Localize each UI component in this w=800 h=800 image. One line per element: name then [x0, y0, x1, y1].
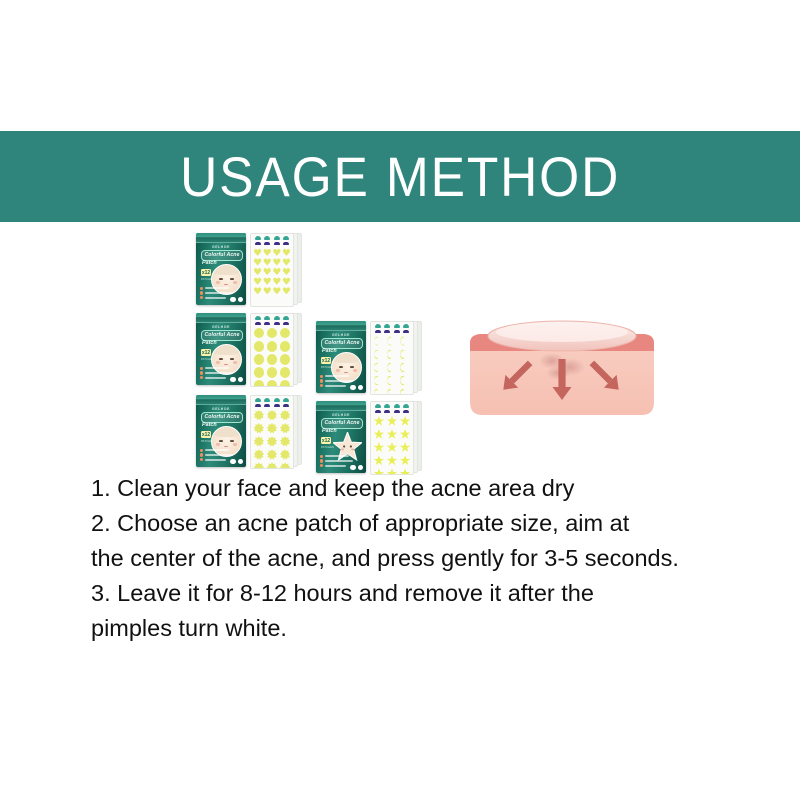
- patch-circle: [254, 380, 265, 387]
- pouch-bullet-row: [200, 291, 242, 294]
- patch-flower: [254, 462, 265, 469]
- patch-moon: [400, 375, 411, 386]
- patch-moon: [374, 362, 385, 373]
- bullet-dot-icon: [200, 449, 203, 452]
- patch-moon: [374, 375, 385, 386]
- bullet-dot-icon: [200, 287, 203, 290]
- patch-sheet-stack: [370, 321, 422, 393]
- instruction-line-5: pimples turn white.: [91, 611, 751, 646]
- bullet-bar: [325, 375, 349, 377]
- pouch-qty-badge: x12: [201, 349, 211, 356]
- bullet-bar: [205, 377, 226, 379]
- pouch-zip-seal: [196, 395, 246, 405]
- pouch-name-line2: Patch: [202, 340, 217, 346]
- face-mouth: [224, 284, 228, 286]
- pouch-bullet-row: [320, 379, 362, 382]
- bullet-bar: [205, 287, 229, 289]
- patch-grid-flower: [251, 407, 293, 469]
- sheet-front: [370, 321, 414, 395]
- instruction-line-4: 3. Leave it for 8-12 hours and remove it…: [91, 576, 751, 611]
- patch-flower: [254, 449, 265, 460]
- bullet-dot-icon: [320, 459, 323, 462]
- pouch-bullet-row: [320, 459, 362, 462]
- patch-heart: [263, 248, 271, 256]
- pouch-zip-seal: [316, 401, 366, 411]
- bullet-dot-icon: [200, 291, 203, 294]
- pouch-bullet-row: [200, 287, 242, 290]
- chip-icon: [230, 377, 236, 383]
- face-eye-right: [230, 278, 234, 280]
- chip-icon: [238, 297, 244, 303]
- patch-flower: [267, 423, 278, 434]
- patch-moon: [387, 349, 398, 360]
- pouch-patch-chips: [350, 465, 363, 471]
- bullet-bar: [325, 380, 353, 382]
- skin-diagram-svg: [466, 305, 658, 430]
- face-eye-right: [350, 366, 354, 368]
- patch-sheet-stack: [250, 313, 302, 385]
- patch-flower: [267, 462, 278, 469]
- patch-heart: [263, 257, 271, 265]
- bullet-dot-icon: [200, 367, 203, 370]
- patch-circle: [280, 341, 291, 352]
- patch-moon: [374, 388, 385, 395]
- pouch-bullet-row: [200, 367, 242, 370]
- face-cheek-right: [233, 443, 237, 445]
- bullet-bar: [325, 460, 353, 462]
- instruction-line-2: 2. Choose an acne patch of appropriate s…: [91, 506, 751, 541]
- pouch-brand-label: GELHOE: [196, 325, 246, 329]
- patch-star: [374, 455, 385, 466]
- patch-circle: [254, 354, 265, 365]
- pouch-bullet-row: [320, 455, 362, 458]
- pouch-brand-label: GELHOE: [316, 413, 366, 417]
- patch-circle: [280, 328, 291, 339]
- product-pouch: GELHOE Colorful Acne Patch x12 PATCHES: [196, 395, 246, 467]
- patch-heart: [263, 267, 271, 275]
- patch-flower: [280, 436, 291, 447]
- bullet-dot-icon: [200, 376, 203, 379]
- pouch-name-line2: Patch: [202, 260, 217, 266]
- pouch-qty-badge: x12: [201, 269, 211, 276]
- product-pouch: GELHOE Colorful Acne Patch x12 PATCHES: [316, 321, 366, 393]
- patch-flower: [280, 410, 291, 421]
- patch-flower: [267, 449, 278, 460]
- patch-sheet-stack: [250, 395, 302, 467]
- patch-heart: [263, 286, 271, 294]
- bullet-dot-icon: [200, 296, 203, 299]
- face-eye-left: [219, 440, 223, 442]
- patch-moon: [400, 388, 411, 395]
- patch-circle: [254, 367, 265, 378]
- patch-moon: [374, 336, 385, 347]
- bullet-dot-icon: [200, 453, 203, 456]
- instruction-line-3: the center of the acne, and press gently…: [91, 541, 751, 576]
- patch-grid-heart: [251, 245, 293, 297]
- patch-star: [400, 442, 411, 453]
- patch-circle: [254, 328, 265, 339]
- face-cheek-right: [233, 281, 237, 283]
- chip-icon: [350, 465, 356, 471]
- patch-star: [374, 416, 385, 427]
- chip-icon: [238, 459, 244, 465]
- page-title: USAGE METHOD: [180, 149, 620, 205]
- patch-star: [387, 455, 398, 466]
- pouch-qty-badge: x12: [201, 431, 211, 438]
- patch-grid-star: [371, 413, 413, 475]
- patch-heart: [282, 286, 290, 294]
- pouch-name-line1: Colorful Acne: [204, 332, 239, 338]
- bullet-bar: [205, 372, 233, 374]
- skin-cross-section-diagram: [466, 305, 658, 430]
- face-mouth: [224, 364, 228, 366]
- patch-circle: [267, 367, 278, 378]
- product-item-moon: GELHOE Colorful Acne Patch x12 PATCHES: [316, 321, 422, 393]
- pouch-zip-seal: [316, 321, 366, 331]
- patch-moon: [387, 388, 398, 395]
- pouch-qty-badge: x12: [321, 357, 331, 364]
- pouch-brand-label: GELHOE: [196, 407, 246, 411]
- patch-heart: [282, 277, 290, 285]
- patch-heart: [254, 257, 262, 265]
- patch-circle: [280, 354, 291, 365]
- face-cheek-left: [336, 369, 340, 371]
- product-item-flower: GELHOE Colorful Acne Patch x12 PATCHES: [196, 395, 302, 467]
- acne-spot: [546, 366, 570, 380]
- patch-heart: [254, 286, 262, 294]
- patch-moon: [400, 349, 411, 360]
- bullet-dot-icon: [200, 371, 203, 374]
- pouch-name-line1: Colorful Acne: [324, 340, 359, 346]
- patch-heart: [254, 267, 262, 275]
- face-cheek-left: [216, 281, 220, 283]
- bullet-bar: [205, 449, 229, 451]
- face-hair: [332, 353, 361, 363]
- pouch-patch-chips: [350, 385, 363, 391]
- patch-moon: [374, 349, 385, 360]
- pouch-bullet-row: [320, 375, 362, 378]
- face-eye-left: [219, 358, 223, 360]
- sheet-front: [250, 233, 294, 307]
- product-pouch: GELHOE Colorful Acne Patch x12 PATCHES: [196, 313, 246, 385]
- patch-star: [400, 416, 411, 427]
- face-cheek-left: [216, 361, 220, 363]
- face-hair: [212, 265, 241, 275]
- bullet-bar: [205, 297, 226, 299]
- patch-heart: [273, 277, 281, 285]
- product-item-heart: GELHOE Colorful Acne Patch x12 PATCHES: [196, 233, 302, 305]
- patch-sheet-stack: [370, 401, 422, 473]
- patch-flower: [254, 423, 265, 434]
- patch-circle: [254, 341, 265, 352]
- pouch-bullet-row: [200, 371, 242, 374]
- pouch-name-line1: Colorful Acne: [204, 252, 239, 258]
- face-eye-right: [230, 358, 234, 360]
- patch-flower: [267, 410, 278, 421]
- bullet-bar: [325, 455, 349, 457]
- patch-star: [387, 429, 398, 440]
- bullet-bar: [205, 454, 233, 456]
- pouch-brand-label: GELHOE: [316, 333, 366, 337]
- product-item-circle: GELHOE Colorful Acne Patch x12 PATCHES: [196, 313, 302, 385]
- patch-heart: [254, 277, 262, 285]
- patch-star: [387, 416, 398, 427]
- face-eye-left: [339, 366, 343, 368]
- pouch-name-line1: Colorful Acne: [204, 414, 239, 420]
- pouch-qty-badge: x12: [321, 437, 331, 444]
- bullet-dot-icon: [320, 455, 323, 458]
- patch-moon: [387, 362, 398, 373]
- acne-patch-highlight: [496, 322, 628, 342]
- patch-heart: [282, 267, 290, 275]
- patch-flower: [267, 436, 278, 447]
- patch-moon: [387, 375, 398, 386]
- patch-moon: [400, 362, 411, 373]
- face-cheek-left: [216, 443, 220, 445]
- face-cheek-right: [233, 361, 237, 363]
- patch-grid-moon: [371, 333, 413, 395]
- face-eye-right: [230, 440, 234, 442]
- face-hair: [212, 427, 241, 437]
- instruction-steps: 1. Clean your face and keep the acne are…: [91, 471, 751, 646]
- pouch-bullet-row: [200, 453, 242, 456]
- chip-icon: [358, 385, 364, 391]
- patch-star: [387, 442, 398, 453]
- bullet-bar: [205, 292, 233, 294]
- bullet-dot-icon: [200, 458, 203, 461]
- pouch-patch-chips: [230, 459, 243, 465]
- patch-heart: [273, 267, 281, 275]
- product-collage: GELHOE Colorful Acne Patch x12 PATCHES: [196, 233, 436, 473]
- pouch-qty-sub: PATCHES: [321, 445, 334, 449]
- face-eye-left: [219, 278, 223, 280]
- patch-flower: [280, 462, 291, 469]
- sheet-front: [250, 313, 294, 387]
- patch-circle: [280, 380, 291, 387]
- bullet-dot-icon: [320, 464, 323, 467]
- pouch-zip-seal: [196, 313, 246, 323]
- pouch-patch-chips: [230, 377, 243, 383]
- bullet-bar: [325, 385, 346, 387]
- patch-heart: [273, 248, 281, 256]
- patch-heart: [263, 277, 271, 285]
- patch-moon: [400, 336, 411, 347]
- patch-sheet-stack: [250, 233, 302, 305]
- patch-flower: [280, 449, 291, 460]
- bullet-dot-icon: [320, 375, 323, 378]
- patch-moon: [387, 336, 398, 347]
- usage-method-infographic: USAGE METHOD GELHOE Colorful Acne Patch …: [0, 0, 800, 800]
- patch-star: [400, 455, 411, 466]
- bullet-bar: [325, 465, 346, 467]
- pouch-zip-seal: [196, 233, 246, 243]
- product-pouch: GELHOE Colorful Acne Patch x12 PATCHES: [316, 401, 366, 473]
- pouch-name-line1: Colorful Acne: [324, 420, 359, 426]
- sheet-front: [370, 401, 414, 475]
- pouch-patch-chips: [230, 297, 243, 303]
- patch-circle: [267, 341, 278, 352]
- patch-circle: [267, 328, 278, 339]
- patch-star: [374, 442, 385, 453]
- face-mouth: [344, 372, 348, 374]
- patch-heart: [282, 257, 290, 265]
- pouch-name-line2: Patch: [202, 422, 217, 428]
- patch-heart: [254, 248, 262, 256]
- patch-star: [400, 429, 411, 440]
- patch-heart: [273, 257, 281, 265]
- chip-icon: [238, 377, 244, 383]
- bullet-bar: [205, 367, 229, 369]
- sheet-front: [250, 395, 294, 469]
- chip-icon: [230, 459, 236, 465]
- patch-flower: [254, 436, 265, 447]
- patch-circle: [267, 380, 278, 387]
- patch-flower: [254, 410, 265, 421]
- bullet-dot-icon: [320, 384, 323, 387]
- patch-heart: [282, 248, 290, 256]
- patch-grid-circle: [251, 325, 293, 387]
- face-cheek-right: [353, 369, 357, 371]
- patch-circle: [280, 367, 291, 378]
- patch-circle: [267, 354, 278, 365]
- chip-icon: [358, 465, 364, 471]
- patch-flower: [280, 423, 291, 434]
- product-item-star: GELHOE Colorful Acne Patch x12 PATCHES: [316, 401, 422, 473]
- chip-icon: [230, 297, 236, 303]
- chip-icon: [350, 385, 356, 391]
- instruction-line-1: 1. Clean your face and keep the acne are…: [91, 471, 751, 506]
- patch-heart: [273, 286, 281, 294]
- face-mouth: [224, 446, 228, 448]
- face-hair: [212, 345, 241, 355]
- bullet-bar: [205, 459, 226, 461]
- pouch-bullet-row: [200, 449, 242, 452]
- patch-star: [374, 429, 385, 440]
- header-banner: USAGE METHOD: [0, 131, 800, 222]
- bullet-dot-icon: [320, 379, 323, 382]
- pouch-name-line2: Patch: [322, 348, 337, 354]
- pouch-brand-label: GELHOE: [196, 245, 246, 249]
- product-pouch: GELHOE Colorful Acne Patch x12 PATCHES: [196, 233, 246, 305]
